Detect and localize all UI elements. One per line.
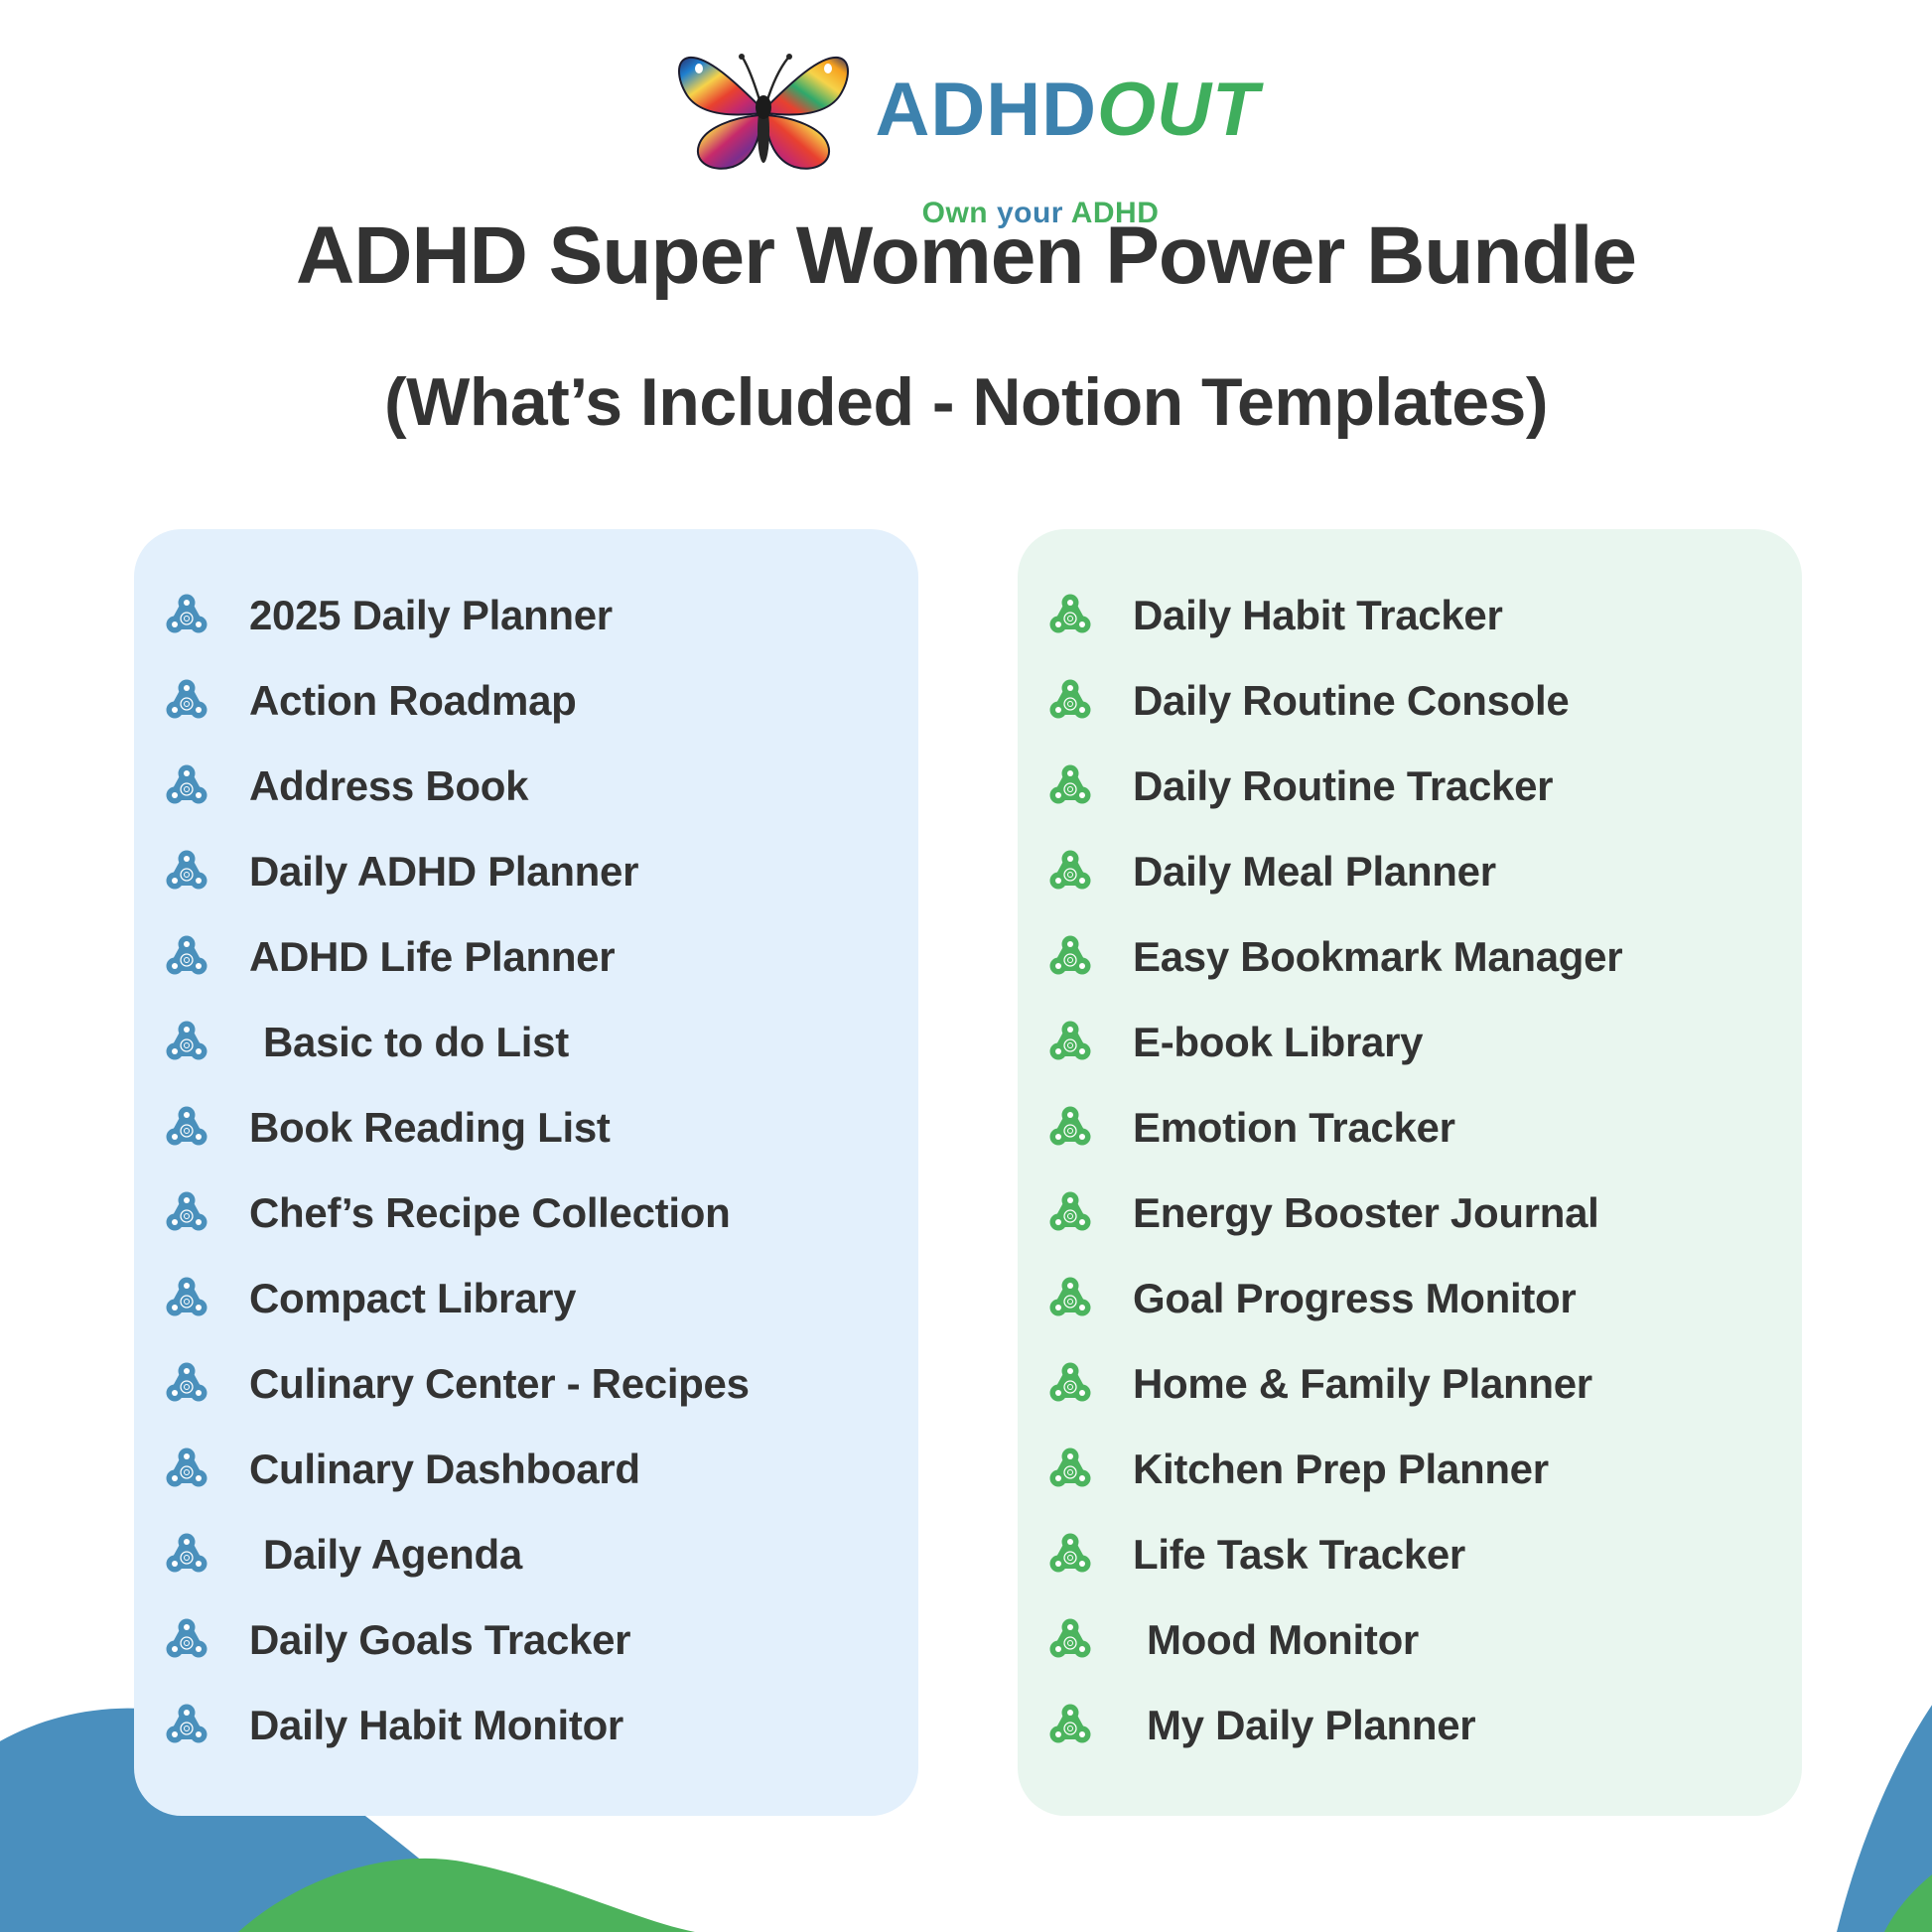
fidget-spinner-icon	[1045, 761, 1095, 811]
page-title: ADHD Super Women Power Bundle	[0, 211, 1932, 301]
list-item-label: Culinary Center - Recipes	[249, 1363, 750, 1405]
right-template-list: Daily Habit TrackerDaily Routine Console…	[1018, 573, 1802, 1768]
fidget-spinner-icon	[1045, 1018, 1095, 1067]
list-item-label: Culinary Dashboard	[249, 1449, 640, 1490]
list-item-label: Energy Booster Journal	[1133, 1192, 1599, 1234]
list-item-label: Daily Habit Monitor	[249, 1705, 623, 1746]
list-item-label: Easy Bookmark Manager	[1133, 936, 1622, 978]
list-item-label: Book Reading List	[249, 1107, 611, 1149]
fidget-spinner-icon	[1045, 1188, 1095, 1238]
fidget-spinner-icon	[1045, 1445, 1095, 1494]
list-item[interactable]: Kitchen Prep Planner	[1018, 1427, 1802, 1512]
brand-wordmark: ADHDOUT	[876, 72, 1260, 148]
list-item[interactable]: Home & Family Planner	[1018, 1341, 1802, 1427]
list-item[interactable]: Address Book	[134, 744, 918, 829]
list-item-label: Address Book	[249, 765, 528, 807]
list-item[interactable]: Book Reading List	[134, 1085, 918, 1171]
list-item-label: Life Task Tracker	[1133, 1534, 1465, 1576]
list-item[interactable]: Daily Routine Console	[1018, 658, 1802, 744]
wave-blue-right	[1837, 1674, 1932, 1932]
list-item-label: Daily Goals Tracker	[249, 1619, 630, 1661]
list-item-label: Daily Agenda	[249, 1534, 522, 1576]
list-item-label: Goal Progress Monitor	[1133, 1278, 1576, 1319]
list-item[interactable]: Daily Agenda	[134, 1512, 918, 1597]
brand-logo-block: ADHDOUT Own your ADHD	[0, 36, 1932, 228]
list-item[interactable]: Action Roadmap	[134, 658, 918, 744]
list-item-label: E-book Library	[1133, 1022, 1423, 1063]
list-item[interactable]: My Daily Planner	[1018, 1683, 1802, 1768]
left-column-card: 2025 Daily PlannerAction RoadmapAddress …	[134, 529, 918, 1816]
fidget-spinner-icon	[1045, 847, 1095, 897]
list-item-label: Daily Routine Console	[1133, 680, 1569, 722]
fidget-spinner-icon	[1045, 1359, 1095, 1409]
fidget-spinner-icon	[162, 591, 211, 640]
list-item-label: Emotion Tracker	[1133, 1107, 1455, 1149]
left-template-list: 2025 Daily PlannerAction RoadmapAddress …	[134, 573, 918, 1768]
page-subtitle: (What’s Included - Notion Templates)	[0, 365, 1932, 440]
right-column-card: Daily Habit TrackerDaily Routine Console…	[1018, 529, 1802, 1816]
list-item[interactable]: Daily Routine Tracker	[1018, 744, 1802, 829]
list-item[interactable]: Daily Goals Tracker	[134, 1597, 918, 1683]
list-item[interactable]: Culinary Dashboard	[134, 1427, 918, 1512]
list-item-label: Chef’s Recipe Collection	[249, 1192, 730, 1234]
list-item[interactable]: Culinary Center - Recipes	[134, 1341, 918, 1427]
list-item[interactable]: Chef’s Recipe Collection	[134, 1171, 918, 1256]
list-item-label: Daily Routine Tracker	[1133, 765, 1553, 807]
fidget-spinner-icon	[1045, 1103, 1095, 1153]
fidget-spinner-icon	[1045, 932, 1095, 982]
fidget-spinner-icon	[162, 1103, 211, 1153]
fidget-spinner-icon	[1045, 1530, 1095, 1580]
fidget-spinner-icon	[162, 676, 211, 726]
fidget-spinner-icon	[162, 847, 211, 897]
list-item[interactable]: 2025 Daily Planner	[134, 573, 918, 658]
list-item[interactable]: Daily Habit Tracker	[1018, 573, 1802, 658]
list-item-label: Daily ADHD Planner	[249, 851, 638, 893]
fidget-spinner-icon	[162, 1530, 211, 1580]
list-item[interactable]: Mood Monitor	[1018, 1597, 1802, 1683]
list-item[interactable]: Daily Meal Planner	[1018, 829, 1802, 914]
list-item[interactable]: Daily Habit Monitor	[134, 1683, 918, 1768]
list-item[interactable]: Easy Bookmark Manager	[1018, 914, 1802, 1000]
list-item-label: Daily Habit Tracker	[1133, 595, 1503, 636]
fidget-spinner-icon	[162, 1445, 211, 1494]
list-item[interactable]: Emotion Tracker	[1018, 1085, 1802, 1171]
fidget-spinner-icon	[162, 1018, 211, 1067]
list-item[interactable]: Goal Progress Monitor	[1018, 1256, 1802, 1341]
wave-green-right	[1884, 1849, 1932, 1932]
list-item-label: ADHD Life Planner	[249, 936, 615, 978]
poster-canvas: ADHDOUT Own your ADHD ADHD Super Women P…	[0, 0, 1932, 1932]
fidget-spinner-icon	[1045, 1615, 1095, 1665]
template-columns: 2025 Daily PlannerAction RoadmapAddress …	[134, 529, 1802, 1816]
fidget-spinner-icon	[162, 932, 211, 982]
fidget-spinner-icon	[162, 1359, 211, 1409]
fidget-spinner-icon	[1045, 1274, 1095, 1323]
fidget-spinner-icon	[162, 1701, 211, 1750]
wordmark-out: OUT	[1097, 68, 1259, 152]
list-item[interactable]: E-book Library	[1018, 1000, 1802, 1085]
wave-green-left	[238, 1859, 695, 1932]
list-item-label: 2025 Daily Planner	[249, 595, 613, 636]
fidget-spinner-icon	[162, 761, 211, 811]
list-item-label: My Daily Planner	[1133, 1705, 1475, 1746]
butterfly-icon	[673, 36, 854, 185]
list-item-label: Basic to do List	[249, 1022, 569, 1063]
fidget-spinner-icon	[162, 1188, 211, 1238]
fidget-spinner-icon	[162, 1274, 211, 1323]
list-item[interactable]: Life Task Tracker	[1018, 1512, 1802, 1597]
list-item[interactable]: Daily ADHD Planner	[134, 829, 918, 914]
list-item-label: Kitchen Prep Planner	[1133, 1449, 1549, 1490]
list-item[interactable]: Basic to do List	[134, 1000, 918, 1085]
list-item[interactable]: Compact Library	[134, 1256, 918, 1341]
list-item[interactable]: Energy Booster Journal	[1018, 1171, 1802, 1256]
list-item-label: Daily Meal Planner	[1133, 851, 1496, 893]
list-item-label: Mood Monitor	[1133, 1619, 1419, 1661]
list-item[interactable]: ADHD Life Planner	[134, 914, 918, 1000]
fidget-spinner-icon	[1045, 676, 1095, 726]
list-item-label: Home & Family Planner	[1133, 1363, 1592, 1405]
wordmark-adhd: ADHD	[876, 68, 1098, 152]
fidget-spinner-icon	[162, 1615, 211, 1665]
logo-row: ADHDOUT	[673, 36, 1260, 185]
list-item-label: Compact Library	[249, 1278, 576, 1319]
fidget-spinner-icon	[1045, 1701, 1095, 1750]
list-item-label: Action Roadmap	[249, 680, 576, 722]
fidget-spinner-icon	[1045, 591, 1095, 640]
